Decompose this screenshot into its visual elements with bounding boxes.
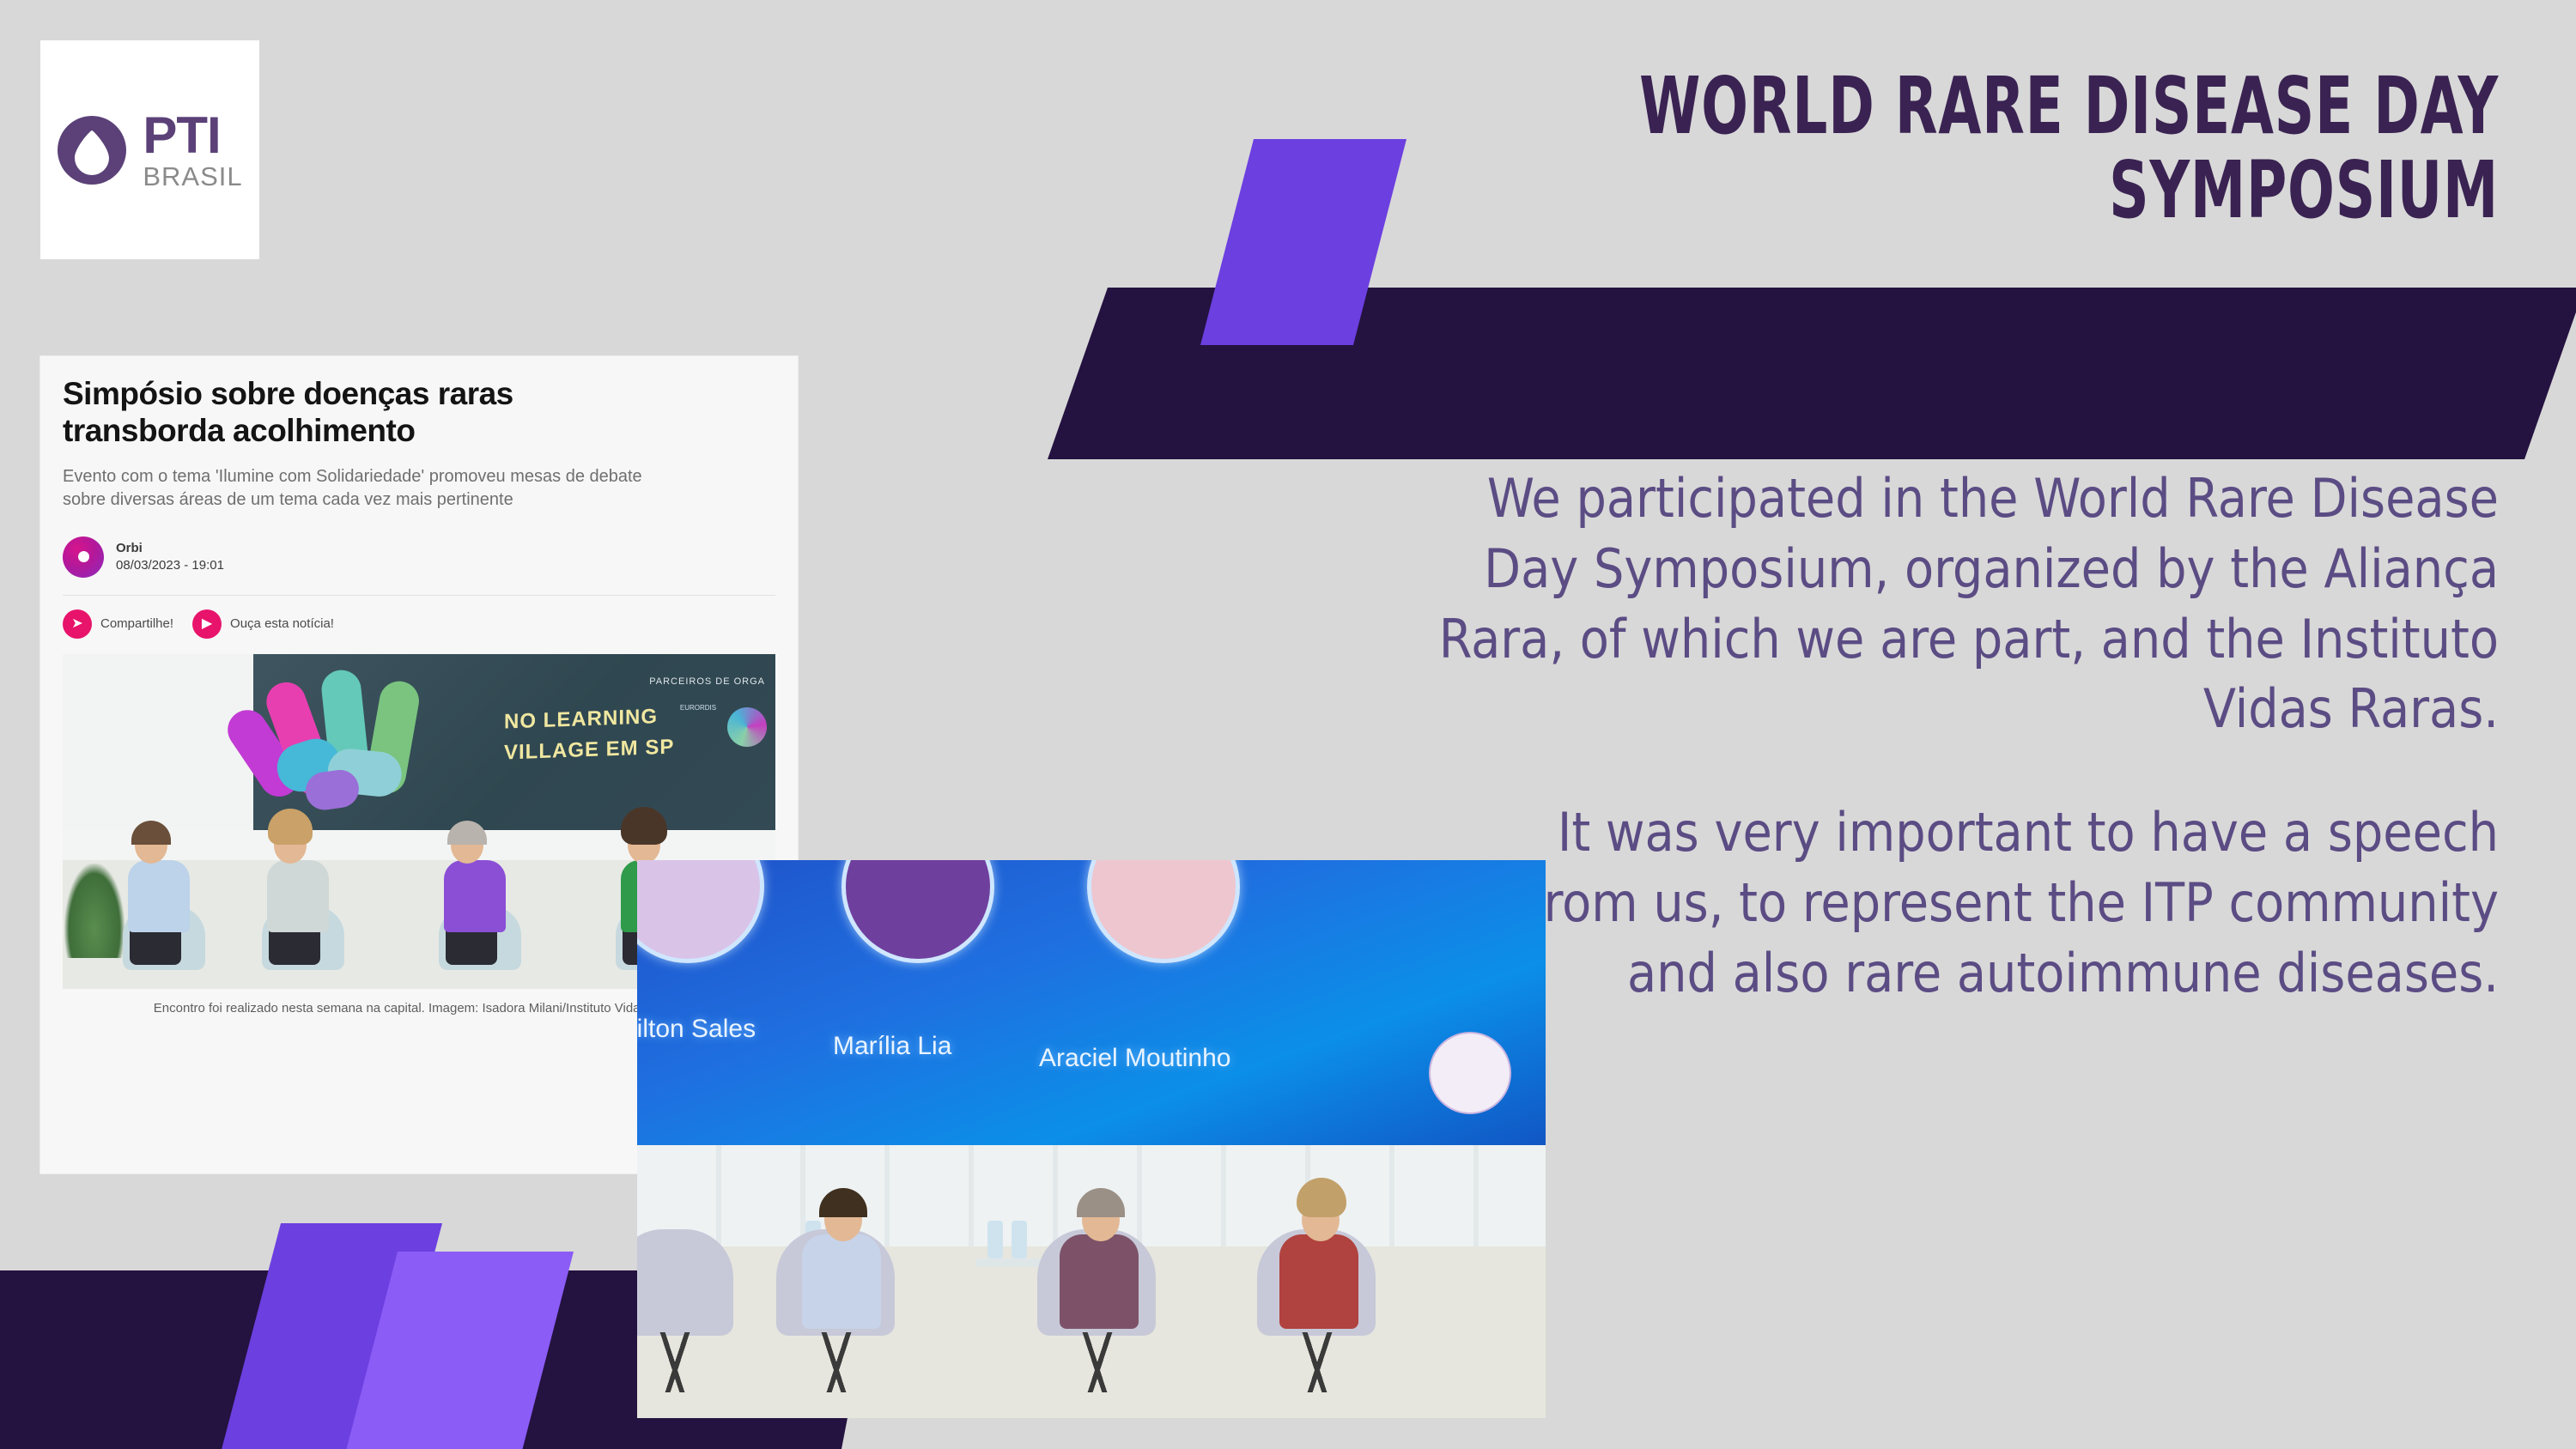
body-copy: We participated in the World Rare Diseas…: [1434, 464, 2499, 1009]
logo-brand-text: PTI: [143, 110, 242, 161]
copy-paragraph-2: It was very important to have a speech f…: [1434, 797, 2499, 1008]
article-headline: Simpósio sobre doenças raras transborda …: [63, 375, 775, 450]
article-timestamp: 08/03/2023 - 19:01: [116, 558, 224, 573]
screen-title-text: NO LEARNING VILLAGE EM SP: [504, 700, 674, 768]
droplet-ring-icon: [57, 115, 127, 185]
article-subtitle: Evento com o tema 'Ilumine com Solidarie…: [63, 465, 775, 512]
partner-circle-logo: [727, 707, 767, 747]
article-byline: Orbi 08/03/2023 - 19:01: [63, 537, 775, 578]
photo2-empty-chair-1: [637, 1229, 733, 1336]
speaker-avatar-3: [1087, 860, 1240, 963]
listen-button[interactable]: ▶ Ouça esta notícia!: [192, 609, 334, 639]
author-avatar: [63, 537, 104, 578]
share-label: Compartilhe!: [100, 616, 173, 631]
copy-spacer: [1434, 744, 2499, 797]
speaker-name-2: Marília Lia: [833, 1032, 951, 1061]
speaker-name-1: Nilton Sales: [637, 1015, 756, 1044]
speaker-avatar-1: [637, 860, 764, 963]
pti-brasil-logo: PTI BRASIL: [40, 40, 259, 259]
speaker-name-3: Araciel Moutinho: [1039, 1044, 1230, 1073]
article-author: Orbi: [116, 540, 224, 557]
copy-paragraph-1: We participated in the World Rare Diseas…: [1434, 464, 2499, 744]
logo-sub-text: BRASIL: [143, 163, 242, 190]
photo-presentation-screen: NO LEARNING VILLAGE EM SP PARCEIROS DE O…: [253, 654, 775, 830]
colorful-hand-graphic: [260, 661, 466, 824]
speaker-avatar-2: [841, 860, 994, 963]
listen-label: Ouça esta notícia!: [230, 616, 334, 631]
photo-plant: [64, 864, 125, 958]
article-action-bar: ➤ Compartilhe! ▶ Ouça esta notícia!: [63, 609, 775, 639]
symposium-photo: Nilton Sales Marília Lia Araciel Moutinh…: [637, 860, 1546, 1418]
share-button[interactable]: ➤ Compartilhe!: [63, 609, 173, 639]
page-title: WORLD RARE DISEASE DAY SYMPOSIUM: [1360, 64, 2499, 232]
slide-canvas: PTI BRASIL WORLD RARE DISEASE DAY SYMPOS…: [0, 0, 2576, 1449]
share-icon: ➤: [63, 609, 92, 639]
photo2-presentation-screen: Nilton Sales Marília Lia Araciel Moutinh…: [637, 860, 1546, 1145]
eurordis-logo: EURORDIS: [676, 704, 720, 757]
play-icon: ▶: [192, 609, 222, 639]
institute-seal-logo: [1429, 1032, 1511, 1114]
photo2-bottle-2: [987, 1221, 1003, 1258]
photo2-bottle-3: [1012, 1221, 1027, 1258]
screen-partners-label: PARCEIROS DE ORGA: [649, 676, 765, 687]
article-divider: [63, 595, 775, 596]
